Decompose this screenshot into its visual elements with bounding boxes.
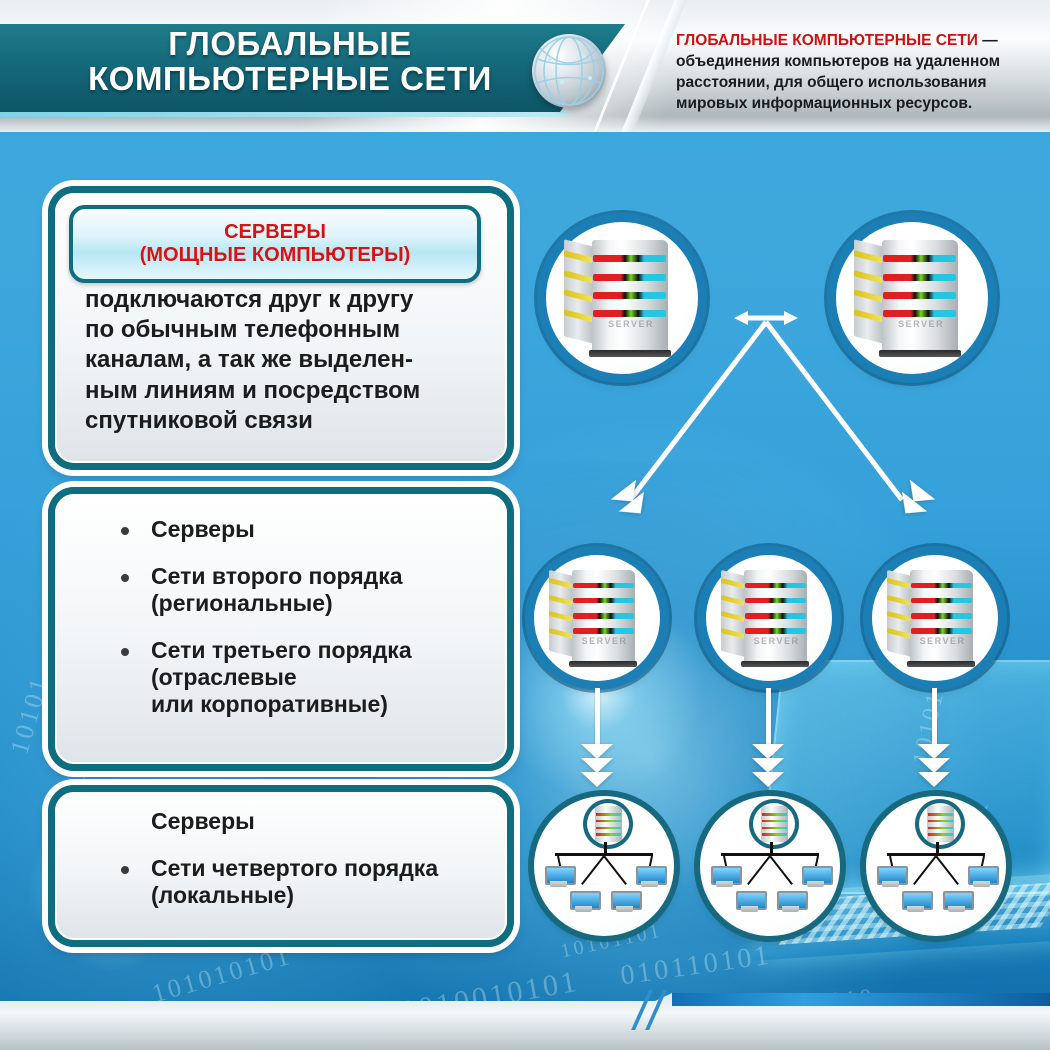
server-node-mid-2: SERVER <box>706 555 832 681</box>
chevron-down-icon <box>581 744 613 759</box>
list-item: Серверы <box>105 516 495 543</box>
network-levels-list: Серверы Сети второго порядка (региональн… <box>105 516 495 737</box>
server-label: SERVER <box>598 319 665 329</box>
list-item-line: Серверы <box>151 516 495 543</box>
list-item-line: Сети четвертого порядка <box>151 855 495 882</box>
server-tower-icon: SERVER <box>706 555 832 681</box>
lan-server-icon <box>587 803 629 845</box>
chevron-down-icon <box>581 772 613 787</box>
server-base <box>879 350 961 358</box>
page-title-line-2: КОМПЬЮТЕРНЫЕ СЕТИ <box>55 61 525 96</box>
server-drive-bay <box>883 292 956 299</box>
server-drive-bay <box>911 628 971 634</box>
lan-leg <box>747 855 771 885</box>
connector-line <box>595 688 600 748</box>
chevron-down-icon <box>752 744 784 759</box>
list-item-line: (региональные) <box>151 590 495 617</box>
computer-icon <box>902 891 929 912</box>
definition-text: объединения компьютеров на удаленном рас… <box>676 53 1000 112</box>
card-body-line: по обычным телефонным <box>85 315 485 345</box>
computer-icon <box>545 866 572 887</box>
card-title-line-2: (МОЩНЫЕ КОМПЬЮТЕРЫ) <box>140 244 411 267</box>
lan-node-2 <box>700 796 840 936</box>
lan-leg <box>603 855 627 885</box>
connector-line <box>932 688 937 748</box>
server-node-top-left: SERVER <box>546 222 698 374</box>
server-label: SERVER <box>888 319 955 329</box>
server-base <box>907 661 975 667</box>
server-drive-bay <box>593 292 666 299</box>
card-servers-definition: СЕРВЕРЫ (МОЩНЫЕ КОМПЬЮТЕРЫ) подключаются… <box>48 186 514 470</box>
computer-icon <box>711 866 738 887</box>
server-label: SERVER <box>749 636 804 646</box>
server-tower-icon: SERVER <box>872 555 998 681</box>
server-base <box>589 350 671 358</box>
computer-icon <box>943 891 970 912</box>
lan-leg <box>769 855 793 885</box>
footer-blue-bar <box>672 993 1050 1006</box>
chevron-down-icon <box>918 758 950 773</box>
definition-term: ГЛОБАЛЬНЫЕ КОМПЬЮТЕРНЫЕ СЕТИ <box>676 32 978 49</box>
card-network-levels-lower: Серверы Сети четвертого порядка (локальн… <box>48 785 514 947</box>
lan-leg <box>913 855 937 885</box>
page-title: ГЛОБАЛЬНЫЕ КОМПЬЮТЕРНЫЕ СЕТИ <box>55 26 525 97</box>
server-base <box>741 661 809 667</box>
server-drive-bay <box>883 255 956 262</box>
list-item: Сети второго порядка (региональные) <box>105 563 495 617</box>
card-body-line: ным линиям и посредством <box>85 376 485 406</box>
server-drive-bay <box>745 628 805 634</box>
list-item-line: (локальные) <box>151 882 495 909</box>
server-drive-bay <box>593 310 666 317</box>
poster-root: 10101 0101101 101010101 1010010101 01011… <box>0 0 1050 1050</box>
server-label: SERVER <box>915 636 970 646</box>
connector-line <box>766 688 771 748</box>
lan-server-icon <box>753 803 795 845</box>
lan-server-icon <box>919 803 961 845</box>
card-title: СЕРВЕРЫ (МОЩНЫЕ КОМПЬЮТЕРЫ) <box>140 221 411 267</box>
server-label: SERVER <box>577 636 632 646</box>
list-item-line: Сети третьего порядка <box>151 637 495 664</box>
server-tower-icon: SERVER <box>546 222 698 374</box>
computer-icon <box>636 866 663 887</box>
server-drive-bay <box>573 598 633 604</box>
server-node-mid-1: SERVER <box>534 555 660 681</box>
lan-node-3 <box>866 796 1006 936</box>
server-drive-bay <box>883 274 956 281</box>
computer-icon <box>611 891 638 912</box>
card-title-pill: СЕРВЕРЫ (МОЩНЫЕ КОМПЬЮТЕРЫ) <box>69 205 481 283</box>
server-drive-bay <box>883 310 956 317</box>
computer-icon <box>968 866 995 887</box>
computer-icon <box>777 891 804 912</box>
header-band-edge <box>0 112 570 117</box>
lan-leg <box>581 855 605 885</box>
chevron-down-icon <box>581 758 613 773</box>
server-drive-bay <box>911 613 971 619</box>
list-item-line: или корпоративные) <box>151 691 495 718</box>
page-header: ГЛОБАЛЬНЫЕ КОМПЬЮТЕРНЫЕ СЕТИ <box>0 0 1050 132</box>
server-drive-bay <box>745 598 805 604</box>
computer-icon <box>736 891 763 912</box>
server-node-mid-3: SERVER <box>872 555 998 681</box>
server-tower-icon: SERVER <box>836 222 988 374</box>
card-body-line: подключаются друг к другу <box>85 285 485 315</box>
definition-dash: — <box>978 32 998 49</box>
server-drive-bay <box>911 583 971 589</box>
card-body-line: каналам, а так же выделен- <box>85 345 485 375</box>
chevron-down-icon <box>752 772 784 787</box>
computer-icon <box>570 891 597 912</box>
card-network-levels-upper: Серверы Сети второго порядка (региональн… <box>48 487 514 771</box>
server-tower-icon: SERVER <box>534 555 660 681</box>
chevron-down-icon <box>752 758 784 773</box>
server-base <box>569 661 637 667</box>
computer-icon <box>802 866 829 887</box>
server-drive-bay <box>593 255 666 262</box>
card-body: подключаются друг к другу по обычным тел… <box>85 285 485 436</box>
globe-icon <box>532 34 606 108</box>
server-node-top-right: SERVER <box>836 222 988 374</box>
list-item-line: (отраслевые <box>151 664 495 691</box>
definition-block: ГЛОБАЛЬНЫЕ КОМПЬЮТЕРНЫЕ СЕТИ — объединен… <box>676 30 1024 114</box>
list-item: Сети четвертого порядка (локальные) <box>105 855 495 909</box>
server-drive-bay <box>573 628 633 634</box>
server-drive-bay <box>911 598 971 604</box>
card-title-line-1: СЕРВЕРЫ <box>140 221 411 244</box>
card-body-line: спутниковой связи <box>85 406 485 436</box>
chevron-down-icon <box>918 772 950 787</box>
list-item-line: Сети второго порядка <box>151 563 495 590</box>
list-item-line: Серверы <box>151 808 495 835</box>
server-drive-bay <box>573 583 633 589</box>
computer-icon <box>877 866 904 887</box>
list-item: Сети третьего порядка (отраслевые или ко… <box>105 637 495 718</box>
lan-leg <box>935 855 959 885</box>
local-network-list: Серверы Сети четвертого порядка (локальн… <box>105 808 495 929</box>
chevron-down-icon <box>918 744 950 759</box>
lan-node-1 <box>534 796 674 936</box>
server-drive-bay <box>573 613 633 619</box>
list-item: Серверы <box>105 808 495 835</box>
server-drive-bay <box>593 274 666 281</box>
page-title-line-1: ГЛОБАЛЬНЫЕ <box>55 26 525 61</box>
server-drive-bay <box>745 583 805 589</box>
server-drive-bay <box>745 613 805 619</box>
